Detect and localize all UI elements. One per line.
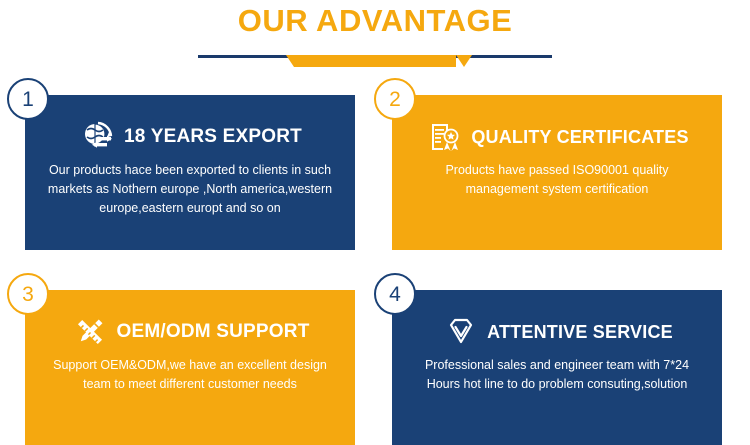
advantage-cards: 1 18 YEARS EXPORT Our produ <box>0 78 750 445</box>
advantage-card-4[interactable]: 4 ATTENTIVE SERVICE Professional sales a… <box>392 290 722 445</box>
card-title: QUALITY CERTIFICATES <box>471 127 688 148</box>
card-number-badge: 4 <box>374 273 416 315</box>
advantage-card-2[interactable]: 2 QUALITY CERTIFICATES Products have p <box>392 95 722 250</box>
card-header: QUALITY CERTIFICATES <box>392 117 722 157</box>
page-title: OUR ADVANTAGE <box>0 2 750 40</box>
divider <box>198 55 552 73</box>
diamond-check-icon <box>441 312 481 352</box>
card-title: OEM/ODM SUPPORT <box>116 321 309 343</box>
card-description: Professional sales and engineer team wit… <box>412 356 702 394</box>
card-number-badge: 2 <box>374 78 416 120</box>
header: OUR ADVANTAGE <box>0 0 750 78</box>
divider-ribbon-icon <box>294 55 456 67</box>
card-description: Our products hace been exported to clien… <box>45 161 335 218</box>
advantage-card-3[interactable]: 3 OEM/ODM <box>25 290 355 445</box>
card-number-badge: 3 <box>7 273 49 315</box>
card-title: ATTENTIVE SERVICE <box>487 322 673 343</box>
card-header: OEM/ODM SUPPORT <box>25 312 355 352</box>
card-header: ATTENTIVE SERVICE <box>392 312 722 352</box>
card-description: Support OEM&ODM,we have an excellent des… <box>45 356 335 394</box>
card-description: Products have passed ISO90001 quality ma… <box>412 161 702 199</box>
card-header: 18 YEARS EXPORT <box>25 117 355 157</box>
certificate-award-icon <box>425 117 465 157</box>
pencil-ruler-icon <box>70 312 110 352</box>
divider-ribbon-right-icon <box>456 55 472 67</box>
card-title: 18 YEARS EXPORT <box>124 126 302 148</box>
card-number-badge: 1 <box>7 78 49 120</box>
globe-exchange-icon <box>78 117 118 157</box>
advantage-card-1[interactable]: 1 18 YEARS EXPORT Our produ <box>25 95 355 250</box>
